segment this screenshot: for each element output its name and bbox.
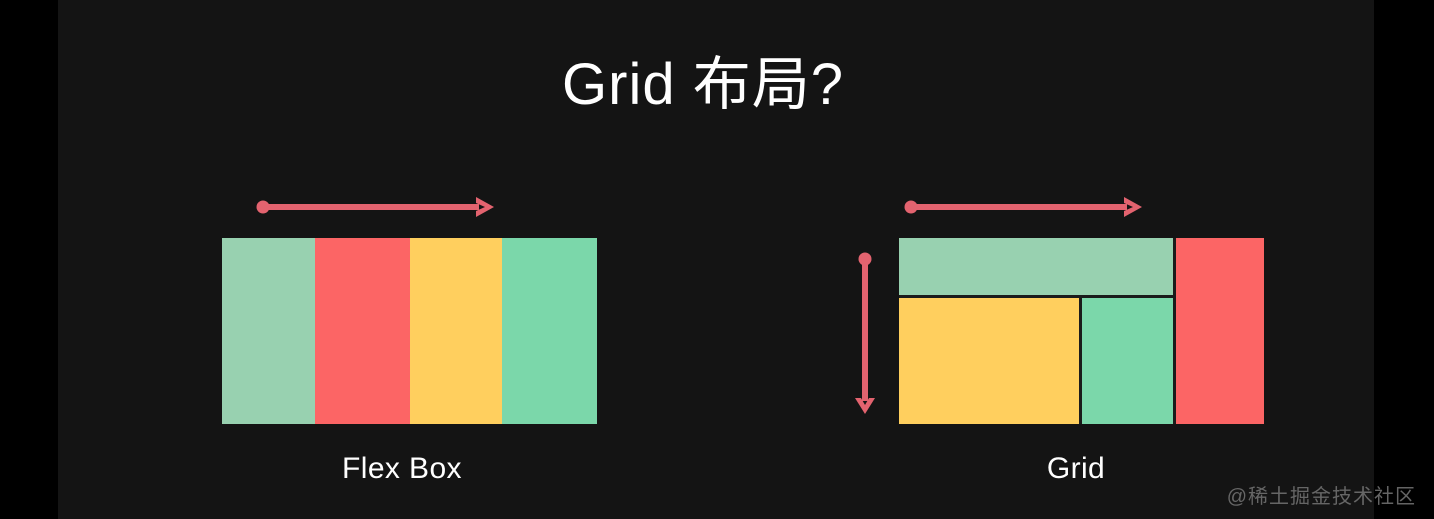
flex-container <box>222 238 597 424</box>
flex-item-3 <box>410 238 502 424</box>
flexbox-label: Flex Box <box>212 452 592 486</box>
inline-axis-arrow-horizontal-icon <box>904 195 1144 219</box>
flex-item-2 <box>315 238 410 424</box>
grid-item-main <box>899 298 1079 424</box>
grid-diagram: Grid <box>785 190 1275 500</box>
grid-item-header <box>899 238 1173 295</box>
flex-item-1 <box>222 238 315 424</box>
flexbox-diagram: Flex Box <box>222 190 602 500</box>
slide-canvas: Grid 布局? Flex Box <box>58 0 1374 519</box>
slide-stage: Grid 布局? Flex Box <box>0 0 1434 519</box>
block-axis-arrow-vertical-icon <box>853 252 877 416</box>
flex-item-4 <box>502 238 597 424</box>
grid-item-sidebar <box>1176 238 1264 424</box>
main-axis-arrow-horizontal-icon <box>256 195 496 219</box>
letterbox-right <box>1374 0 1434 519</box>
grid-item-aside <box>1082 298 1173 424</box>
watermark: @稀土掘金技术社区 <box>1227 480 1416 509</box>
letterbox-left <box>0 0 58 519</box>
grid-container <box>899 238 1264 424</box>
page-title: Grid 布局? <box>58 53 1348 117</box>
